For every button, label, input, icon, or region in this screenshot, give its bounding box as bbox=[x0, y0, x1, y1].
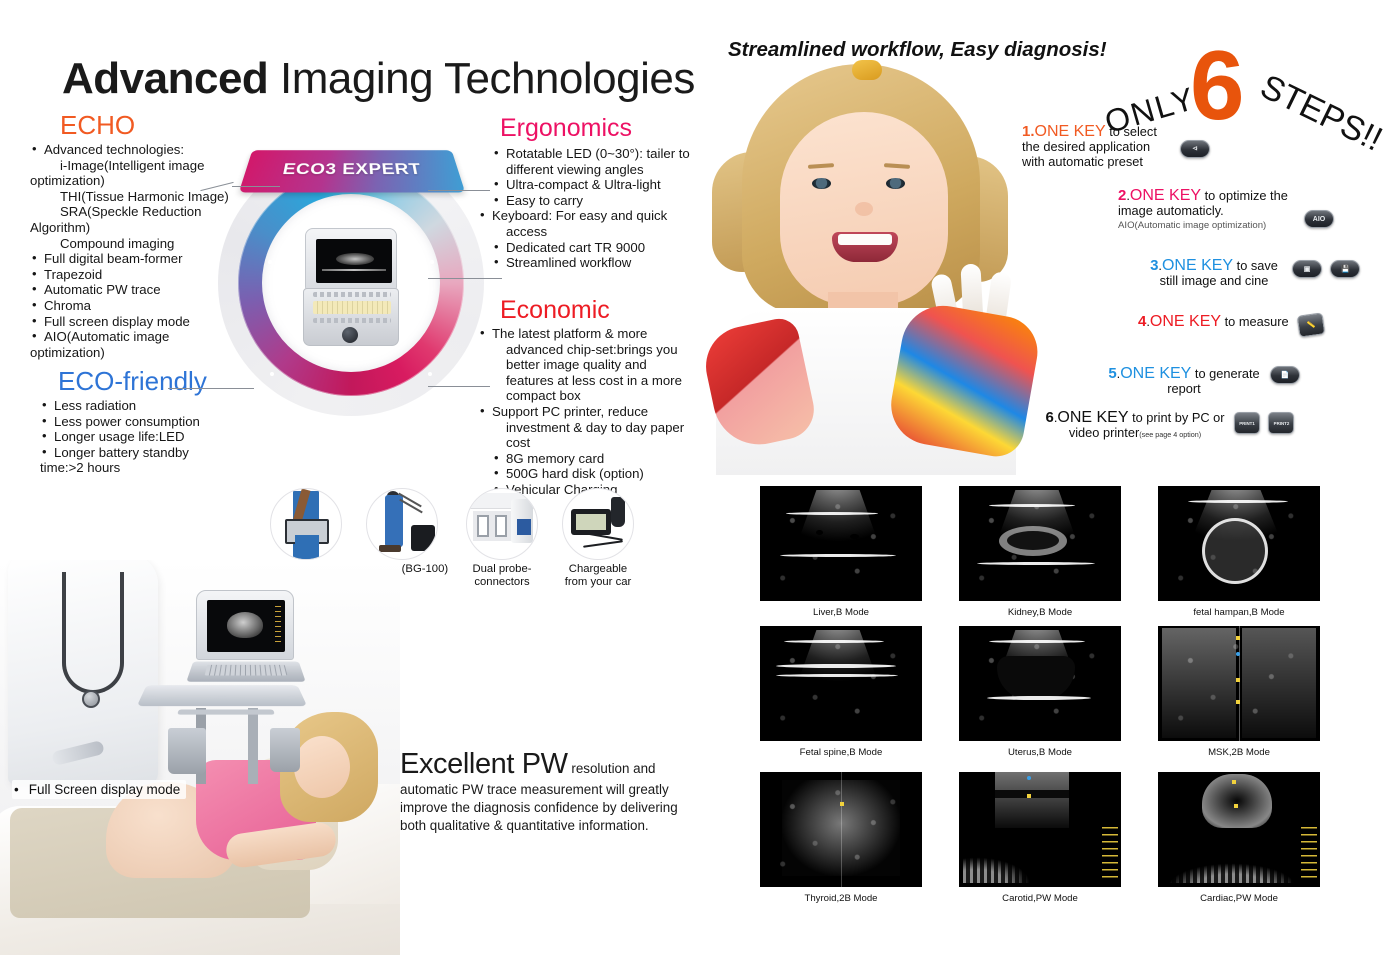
device-base bbox=[303, 288, 399, 346]
list-item: i-Image(Intelligent image bbox=[30, 158, 245, 174]
scan-blob bbox=[336, 253, 374, 265]
list-item: Streamlined workflow bbox=[492, 255, 692, 271]
ring-dot bbox=[268, 260, 272, 264]
stethoscope-head bbox=[82, 690, 100, 708]
step-one-key: ONE KEY bbox=[1120, 365, 1191, 382]
probe-key-icon[interactable]: ⏿ bbox=[1180, 140, 1210, 158]
us-caption: Thyroid,2B Mode bbox=[760, 893, 922, 904]
patient-face bbox=[294, 736, 350, 798]
car-charger-icon bbox=[562, 488, 634, 560]
pw-velocity-scale bbox=[1301, 827, 1317, 881]
us-cell: Thyroid,2B Mode bbox=[760, 772, 922, 904]
ergonomics-list: Rotatable LED (0~30°): tailer to differe… bbox=[492, 146, 692, 271]
list-item: Automatic PW trace bbox=[30, 282, 245, 298]
dual-probe-connectors-icon bbox=[466, 488, 538, 560]
ultra-compact-icon bbox=[270, 488, 342, 560]
connector-line bbox=[232, 186, 280, 187]
step-6: 6.ONE KEY to print by PC or video printe… bbox=[1042, 410, 1228, 442]
list-item: Keyboard: For easy and quick access bbox=[492, 208, 692, 239]
brochure-page: Advanced Imaging Technologies ECHO Advan… bbox=[0, 0, 1400, 955]
fetal-scan-blob bbox=[227, 612, 263, 638]
connector-line bbox=[428, 278, 502, 279]
stethoscope bbox=[62, 572, 124, 694]
us-caption: MSK,2B Mode bbox=[1158, 747, 1320, 758]
aio-key-icon[interactable]: AIO bbox=[1304, 210, 1334, 228]
hair-tie bbox=[852, 60, 882, 80]
eye-right bbox=[886, 178, 905, 189]
us-cell: Carotid,PW Mode bbox=[959, 772, 1121, 904]
us-image-uterus bbox=[959, 626, 1121, 741]
list-item: AIO(Automatic image bbox=[30, 329, 245, 345]
excellent-pw-block: Excellent PW resolution and automatic PW… bbox=[400, 748, 680, 835]
us-cell: Liver,B Mode bbox=[760, 486, 922, 618]
us-caption: Kidney,B Mode bbox=[959, 607, 1121, 618]
step-5-button[interactable]: 📄 bbox=[1268, 366, 1302, 384]
list-item: Support PC printer, reduce investment & … bbox=[492, 404, 692, 451]
list-item: SRA(Speckle Reduction bbox=[30, 204, 245, 220]
save-cine-key-icon[interactable]: ▣ bbox=[1292, 260, 1322, 278]
step-number: 5 bbox=[1108, 365, 1116, 382]
list-item: Ultra-compact & Ultra-light bbox=[492, 177, 692, 193]
cart-leg bbox=[248, 708, 258, 784]
list-item: Longer battery standby bbox=[40, 445, 255, 461]
cart-top bbox=[137, 685, 307, 706]
screen-depth-scale bbox=[275, 606, 281, 646]
economic-list: The latest platform & more advanced chip… bbox=[492, 326, 692, 498]
machine-lid bbox=[196, 590, 294, 660]
step-one-key: ONE KEY bbox=[1150, 313, 1221, 330]
fullscreen-display-note: •Full Screen display mode bbox=[12, 780, 186, 799]
us-cell: Fetal spine,B Mode bbox=[760, 626, 922, 758]
cart-shelf bbox=[177, 709, 274, 714]
us-caption: Uterus,B Mode bbox=[959, 747, 1121, 758]
us-image-cardiac-pw bbox=[1158, 772, 1320, 887]
us-image-liver bbox=[760, 486, 922, 601]
us-cell: Cardiac,PW Mode bbox=[1158, 772, 1320, 904]
us-caption: Liver,B Mode bbox=[760, 607, 922, 618]
heading-eco-friendly: ECO-friendly bbox=[58, 366, 207, 397]
us-caption: fetal hampan,B Mode bbox=[1158, 607, 1320, 618]
ring-dot bbox=[428, 372, 432, 376]
carrying-bag-icon bbox=[366, 488, 438, 560]
device-lid bbox=[305, 228, 397, 290]
feature-icon-dual-probe: Dual probe- connectors bbox=[454, 488, 550, 588]
banner-label: ECO3 EXPERT bbox=[281, 161, 423, 179]
step-number: 6 bbox=[1045, 409, 1053, 426]
pw-spectrum bbox=[1162, 839, 1302, 883]
step-3: 3.ONE KEY to save still image and cine bbox=[1140, 258, 1288, 288]
device-trackball bbox=[342, 327, 358, 343]
probe-holder bbox=[168, 728, 206, 774]
icon-caption: Dual probe- connectors bbox=[454, 563, 550, 588]
cart-mounted-ultrasound bbox=[196, 590, 294, 680]
video-print-key-icon[interactable]: PRINT2 bbox=[1268, 412, 1294, 434]
us-image-fetal-spine bbox=[760, 626, 922, 741]
list-item: 500G hard disk (option) bbox=[492, 466, 692, 482]
us-cell: MSK,2B Mode bbox=[1158, 626, 1320, 758]
device-button-row bbox=[313, 318, 391, 323]
step-one-key: ONE KEY bbox=[1162, 257, 1233, 274]
us-image-fetal-hampan bbox=[1158, 486, 1320, 601]
us-image-carotid-pw bbox=[959, 772, 1121, 887]
steps-label: STEPS!! bbox=[1254, 67, 1388, 159]
connector-line bbox=[428, 190, 490, 191]
us-image-msk bbox=[1158, 626, 1320, 741]
heading-echo: ECHO bbox=[60, 110, 135, 141]
device-button-row bbox=[313, 292, 391, 297]
step-6-buttons[interactable]: PRINT1 PRINT2 bbox=[1232, 412, 1296, 434]
list-item: Dedicated cart TR 9000 bbox=[492, 240, 692, 256]
step-1: 1.ONE KEY to select the desired applicat… bbox=[1022, 124, 1172, 169]
nose bbox=[855, 202, 873, 216]
fullscreen-label: Full Screen display mode bbox=[29, 782, 181, 797]
bullet-icon: • bbox=[14, 782, 19, 797]
save-image-key-icon[interactable]: 💾 bbox=[1330, 260, 1360, 278]
list-item: Advanced technologies: bbox=[30, 142, 245, 158]
tagline: Streamlined workflow, Easy diagnosis! bbox=[728, 38, 1107, 62]
title-light: Imaging Technologies bbox=[268, 54, 695, 103]
pw-velocity-scale bbox=[1102, 827, 1118, 881]
ultrasound-device-illustration bbox=[303, 228, 399, 346]
us-caption: Carotid,PW Mode bbox=[959, 893, 1121, 904]
step-text: to measure bbox=[1221, 314, 1289, 329]
step-one-key: ONE KEY bbox=[1057, 409, 1128, 426]
list-item: Easy to carry bbox=[492, 193, 692, 209]
pw-spectrum bbox=[963, 839, 1103, 883]
list-item: optimization) bbox=[30, 345, 245, 361]
list-item: Algorithm) bbox=[30, 220, 245, 236]
ring-dot bbox=[430, 260, 434, 264]
us-caption: Cardiac,PW Mode bbox=[1158, 893, 1320, 904]
ring-dot bbox=[270, 372, 274, 376]
pw-headline: Excellent PW bbox=[400, 748, 568, 780]
eye-left bbox=[812, 178, 831, 189]
list-item: 8G memory card bbox=[492, 451, 692, 467]
list-item: time:>2 hours bbox=[40, 460, 255, 476]
pc-print-key-icon[interactable]: PRINT1 bbox=[1234, 412, 1260, 434]
doctor-patient-photo bbox=[0, 560, 400, 955]
title-bold: Advanced bbox=[62, 54, 268, 103]
heading-ergonomics: Ergonomics bbox=[500, 114, 632, 143]
painted-hand-right bbox=[885, 299, 1043, 460]
measure-key-icon[interactable]: 📏 bbox=[1297, 312, 1326, 337]
step-2-button[interactable]: AIO bbox=[1302, 210, 1336, 228]
step-3-buttons[interactable]: ▣ 💾 bbox=[1290, 260, 1362, 278]
us-cell: Uterus,B Mode bbox=[959, 626, 1121, 758]
connector-line bbox=[428, 386, 490, 387]
step-2: 2.ONE KEY to optimize the image automati… bbox=[1118, 188, 1293, 233]
heading-economic: Economic bbox=[500, 296, 610, 325]
step-4: 4.ONE KEY to measure bbox=[1138, 314, 1304, 329]
step-5: 5.ONE KEY to generate report bbox=[1102, 366, 1266, 396]
step-number: 1. bbox=[1022, 123, 1035, 140]
us-cell: Kidney,B Mode bbox=[959, 486, 1121, 618]
echo-feature-list: Advanced technologies: i-Image(Intellige… bbox=[30, 142, 245, 360]
ultrasound-sample-grid: Liver,B Mode Kidney,B Mode fetal hampan,… bbox=[760, 486, 1320, 916]
step-subtext: AIO(Automatic image optimization) bbox=[1118, 218, 1293, 233]
connector-line bbox=[168, 388, 254, 389]
machine-keyboard bbox=[205, 665, 288, 676]
list-item: Full screen display mode bbox=[30, 314, 245, 330]
six-number: 6 bbox=[1190, 36, 1245, 134]
report-key-icon[interactable]: 📄 bbox=[1270, 366, 1300, 384]
us-image-kidney bbox=[959, 486, 1121, 601]
step-4-button[interactable]: 📏 bbox=[1296, 314, 1326, 336]
us-image-thyroid bbox=[760, 772, 922, 887]
device-keyboard bbox=[313, 301, 391, 314]
step-one-key: ONE KEY bbox=[1035, 123, 1106, 140]
feature-icon-car-charger: Chargeable from your car bbox=[550, 488, 646, 588]
list-item: THI(Tissue Harmonic Image) bbox=[30, 189, 245, 205]
device-screen bbox=[316, 239, 392, 283]
list-item: Rotatable LED (0~30°): tailer to differe… bbox=[492, 146, 692, 177]
us-cell: fetal hampan,B Mode bbox=[1158, 486, 1320, 618]
machine-screen bbox=[207, 600, 285, 652]
list-item: Trapezoid bbox=[30, 267, 245, 283]
step-one-key: ONE KEY bbox=[1130, 187, 1201, 204]
list-item: Full digital beam-former bbox=[30, 251, 245, 267]
step-tiny-note: (see page 4 option) bbox=[1139, 430, 1201, 439]
step-1-button[interactable]: ⏿ bbox=[1178, 140, 1212, 158]
scan-line bbox=[322, 269, 386, 271]
us-caption: Fetal spine,B Mode bbox=[760, 747, 922, 758]
list-item: Compound imaging bbox=[30, 236, 245, 252]
mouth bbox=[832, 232, 898, 262]
probe-holder bbox=[270, 728, 300, 772]
icon-caption: Chargeable from your car bbox=[550, 563, 646, 588]
child-photo bbox=[700, 60, 1052, 475]
page-title: Advanced Imaging Technologies bbox=[62, 54, 695, 104]
list-item: Longer usage life:LED bbox=[40, 429, 255, 445]
list-item: Chroma bbox=[30, 298, 245, 314]
list-item: The latest platform & more advanced chip… bbox=[492, 326, 692, 404]
